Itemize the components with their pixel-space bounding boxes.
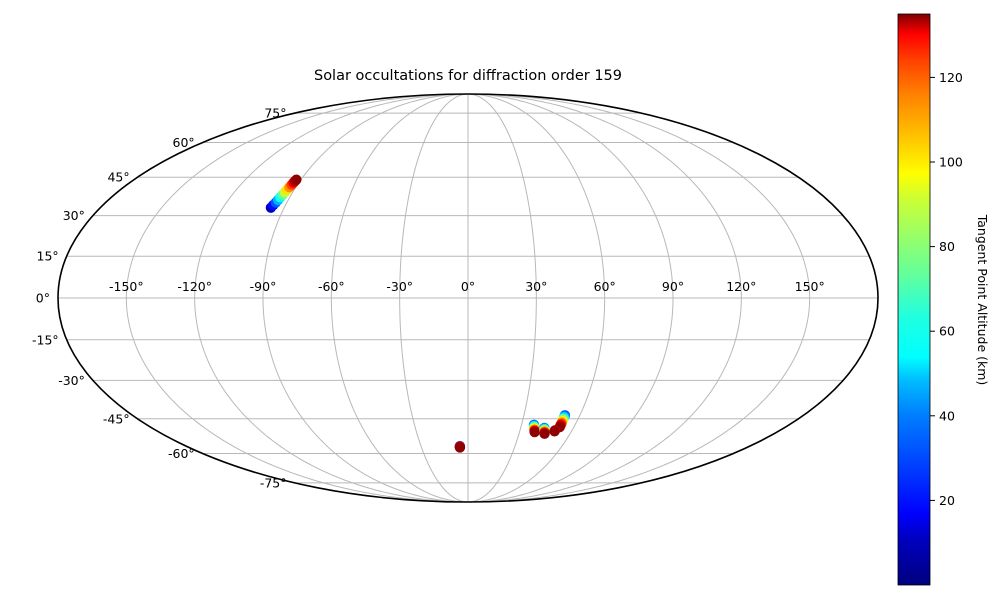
occultation-track: [539, 423, 550, 439]
longitude-tick-label: 30°: [525, 279, 547, 294]
latitude-tick-label: 30°: [63, 208, 85, 223]
latitude-tick-label: -15°: [32, 332, 59, 347]
longitude-tick-label: 60°: [594, 279, 616, 294]
graticule-group: [58, 94, 878, 502]
latitude-tick-label: 60°: [173, 135, 195, 150]
occultation-track: [266, 174, 302, 212]
colorbar-tick-label: 40: [939, 408, 955, 423]
longitude-tick-label: -150°: [109, 279, 144, 294]
colorbar-ticks: 20406080100120: [930, 70, 963, 508]
latitude-tick-label: 0°: [36, 291, 50, 306]
mollweide-map-figure: Solar occultations for diffraction order…: [0, 0, 1000, 600]
latitude-tick-label: -30°: [58, 373, 85, 388]
figure-canvas: Solar occultations for diffraction order…: [0, 0, 1000, 600]
graticule-lines: [58, 94, 878, 502]
latitude-tick-label: -60°: [168, 446, 195, 461]
occultation-track: [455, 441, 465, 453]
colorbar-tick-label: 80: [939, 239, 955, 254]
longitude-tick-label: 120°: [726, 279, 756, 294]
latitude-tick-label: 45°: [107, 170, 129, 185]
latitude-tick-label: 15°: [37, 249, 59, 264]
latitude-tick-label: 75°: [264, 106, 286, 121]
occultation-point: [539, 428, 549, 438]
page-title: Solar occultations for diffraction order…: [314, 68, 622, 84]
longitude-tick-label: 0°: [461, 279, 475, 294]
occultation-point: [291, 174, 301, 184]
longitude-tick-labels: -150°-120°-90°-60°-30°0°30°60°90°120°150…: [109, 279, 825, 294]
latitude-tick-label: -75°: [260, 475, 287, 490]
longitude-tick-label: -90°: [250, 279, 277, 294]
map-axes: -150°-120°-90°-60°-30°0°30°60°90°120°150…: [32, 94, 878, 502]
colorbar-axis-label: Tangent Point Altitude (km): [975, 214, 990, 386]
colorbar-tick-label: 120: [939, 70, 963, 85]
latitude-tick-label: -45°: [103, 411, 130, 426]
occultation-point: [455, 442, 465, 452]
colorbar-tick-label: 100: [939, 155, 963, 170]
longitude-tick-label: 150°: [795, 279, 825, 294]
colorbar-tick-label: 20: [939, 493, 955, 508]
colorbar: 20406080100120 Tangent Point Altitude (k…: [898, 14, 990, 585]
occultation-track: [529, 420, 540, 438]
colorbar-tick-label: 60: [939, 324, 955, 339]
longitude-tick-label: -120°: [177, 279, 212, 294]
occultation-point: [529, 427, 539, 437]
longitude-tick-label: 90°: [662, 279, 684, 294]
occultation-point: [549, 426, 559, 436]
occultation-track: [549, 425, 560, 436]
colorbar-gradient: [898, 14, 930, 585]
longitude-tick-label: -60°: [318, 279, 345, 294]
longitude-tick-label: -30°: [386, 279, 413, 294]
